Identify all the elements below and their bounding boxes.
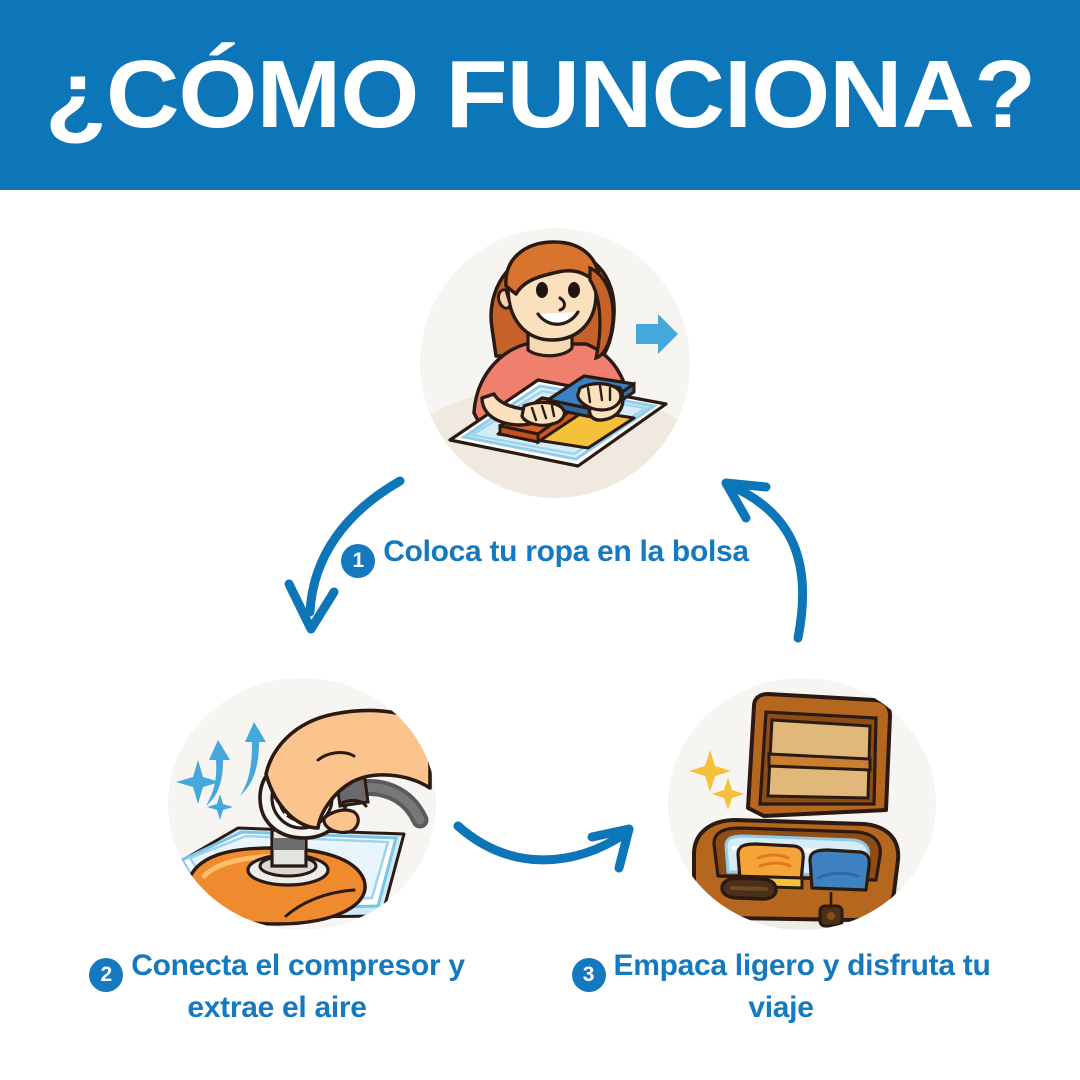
- step-caption-3: 3Empaca ligero y disfruta tu viaje: [556, 950, 1006, 1024]
- yellow-sparkles-icon: [689, 750, 744, 810]
- step-caption-text-1: Coloca tu ropa en la bolsa: [383, 535, 749, 568]
- open-suitcase-with-clothes-icon: [668, 678, 936, 930]
- step-caption-text-3: Empaca ligero y disfruta tu viaje: [614, 949, 991, 1024]
- sparkles-icon: [176, 760, 233, 820]
- woman-placing-clothes-in-vacuum-bag-icon: [420, 228, 690, 498]
- illustration-step-2: [168, 678, 436, 930]
- illustration-step-1: [420, 228, 690, 498]
- air-arrows-icon: [206, 722, 266, 806]
- small-blue-arrow-icon: [636, 314, 678, 354]
- arrow-step2-to-step3-icon: [458, 826, 629, 868]
- step-caption-text-2: Conecta el compresor y extrae el aire: [131, 949, 465, 1024]
- step-caption-2: 2Conecta el compresor y extrae el aire: [52, 950, 502, 1024]
- illustration-step-3: [668, 678, 936, 930]
- step-caption-1: 1Coloca tu ropa en la bolsa: [330, 536, 760, 578]
- step-badge-1: 1: [341, 544, 375, 578]
- step-badge-3: 3: [572, 958, 606, 992]
- hand-with-vacuum-compressor-icon: [168, 678, 436, 930]
- step-badge-2: 2: [89, 958, 123, 992]
- infographic-poster: ¿CÓMO FUNCIONA?: [0, 0, 1080, 1080]
- page-title: ¿CÓMO FUNCIONA?: [0, 0, 1080, 190]
